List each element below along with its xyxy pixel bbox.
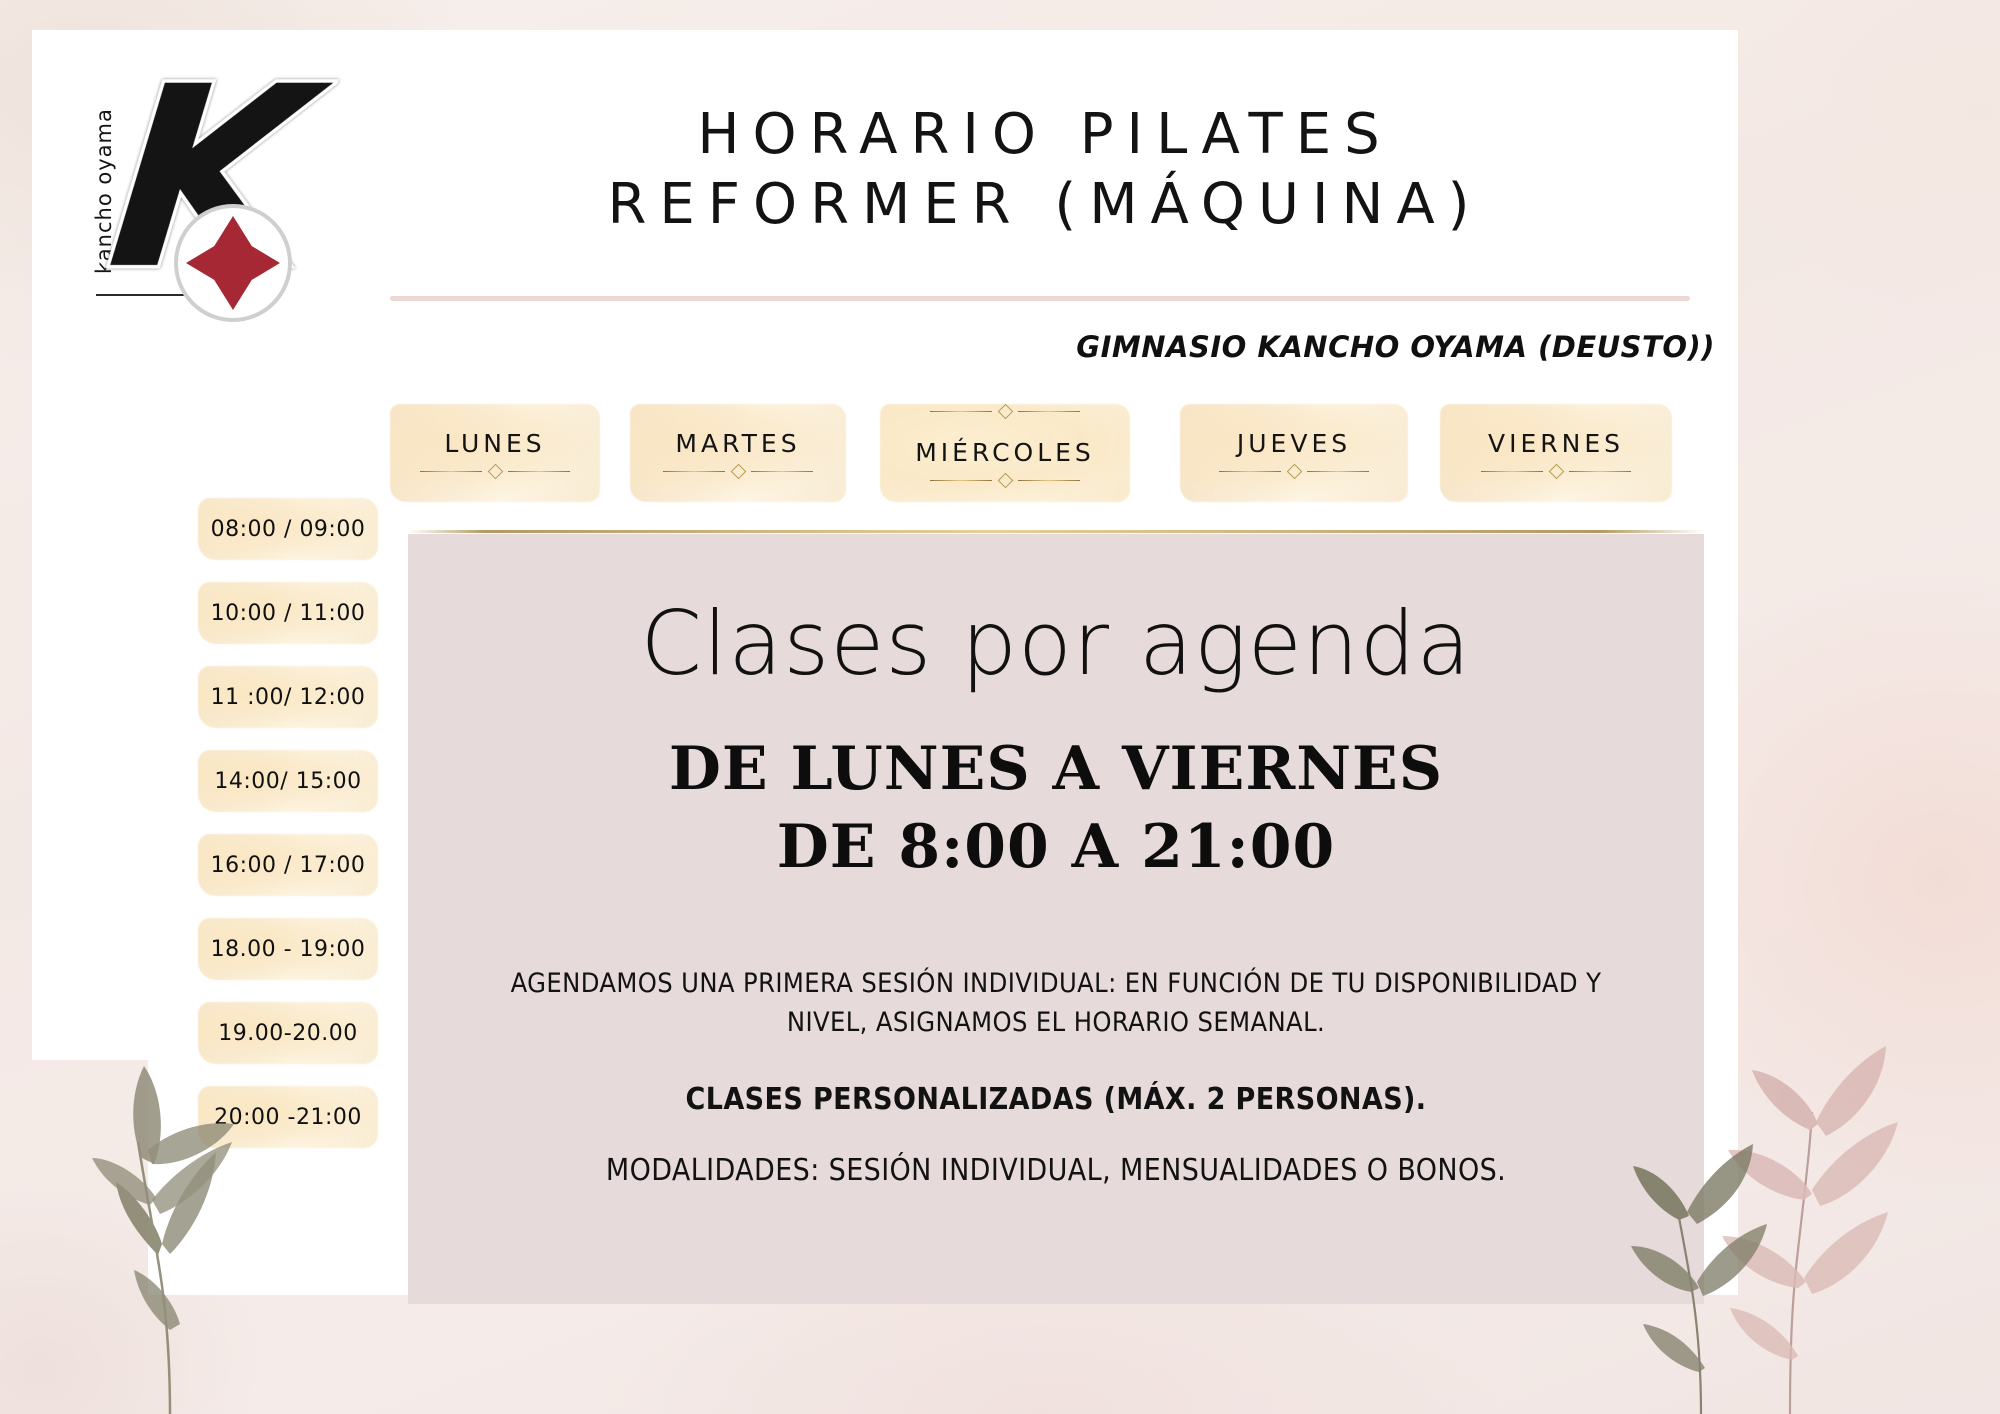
time-slot-item[interactable]: 18.00 - 19:00 (198, 918, 378, 980)
tab-ornament-viernes (1481, 466, 1631, 476)
tab-jueves[interactable]: JUEVES (1180, 398, 1408, 506)
tab-lunes[interactable]: LUNES (390, 398, 600, 506)
time-slot-label: 16:00 / 17:00 (211, 853, 366, 878)
time-slot-label: 08:00 / 09:00 (211, 517, 366, 542)
tab-viernes[interactable]: VIERNES (1440, 398, 1672, 506)
panel-body: AGENDAMOS UNA PRIMERA SESIÓN INDIVIDUAL:… (478, 964, 1634, 1188)
time-slot-label: 20:00 -21:00 (214, 1105, 362, 1130)
tab-label-viernes: VIERNES (1488, 429, 1624, 458)
panel-subline-hours: DE 8:00 A 21:00 (408, 812, 1704, 882)
time-slot-item[interactable]: 08:00 / 09:00 (198, 498, 378, 560)
time-slot-list: 08:00 / 09:00 10:00 / 11:00 11 :00/ 12:0… (198, 498, 378, 1170)
tab-ornament-top-miercoles (930, 406, 1080, 416)
page-title-line-2: REFORMER (MÁQUINA) (380, 170, 1710, 240)
time-slot-label: 10:00 / 11:00 (211, 601, 366, 626)
time-slot-item[interactable]: 11 :00/ 12:00 (198, 666, 378, 728)
tab-miercoles[interactable]: MIÉRCOLES (880, 398, 1130, 506)
time-slot-item[interactable]: 14:00/ 15:00 (198, 750, 378, 812)
poster-canvas: kancho oyama K HORARIO PILATES REFORMER … (0, 0, 2000, 1414)
tab-martes[interactable]: MARTES (630, 398, 846, 506)
time-slot-item[interactable]: 16:00 / 17:00 (198, 834, 378, 896)
title-divider (390, 296, 1690, 301)
page-title-line-1: HORARIO PILATES (380, 100, 1710, 170)
day-tab-bar: LUNES MARTES MIÉRCOLES JUEVES VIERNES (390, 398, 1790, 508)
brand-logo-emblem-icon (174, 204, 292, 322)
tab-ornament-jueves (1219, 466, 1369, 476)
tab-label-martes: MARTES (675, 429, 800, 458)
panel-paragraph-3: MODALIDADES: SESIÓN INDIVIDUAL, MENSUALI… (478, 1153, 1634, 1188)
panel-subline-days: DE LUNES A VIERNES (408, 734, 1704, 804)
time-slot-item[interactable]: 20:00 -21:00 (198, 1086, 378, 1148)
panel-paragraph-2: CLASES PERSONALIZADAS (MÁX. 2 PERSONAS). (478, 1082, 1634, 1117)
tab-ornament-martes (663, 466, 813, 476)
panel-paragraph-1: AGENDAMOS UNA PRIMERA SESIÓN INDIVIDUAL:… (478, 964, 1634, 1042)
time-slot-label: 19.00-20.00 (218, 1021, 357, 1046)
tab-ornament-miercoles (930, 475, 1080, 485)
time-slot-label: 18.00 - 19:00 (211, 937, 366, 962)
panel-headline: Clases por agenda (408, 592, 1704, 695)
tab-label-jueves: JUEVES (1237, 429, 1351, 458)
tab-label-miercoles: MIÉRCOLES (915, 438, 1095, 467)
page-title: HORARIO PILATES REFORMER (MÁQUINA) (380, 100, 1710, 240)
tab-ornament-lunes (420, 466, 570, 476)
time-slot-label: 14:00/ 15:00 (214, 769, 361, 794)
schedule-content-panel: Clases por agenda DE LUNES A VIERNES DE … (408, 534, 1704, 1304)
gym-subtitle: GIMNASIO KANCHO OYAMA (DEUSTO)) (1076, 330, 1715, 364)
tab-label-lunes: LUNES (444, 429, 545, 458)
time-slot-item[interactable]: 19.00-20.00 (198, 1002, 378, 1064)
panel-top-divider (408, 530, 1704, 533)
brand-logo: kancho oyama K (76, 62, 306, 312)
time-slot-item[interactable]: 10:00 / 11:00 (198, 582, 378, 644)
time-slot-label: 11 :00/ 12:00 (211, 685, 366, 710)
